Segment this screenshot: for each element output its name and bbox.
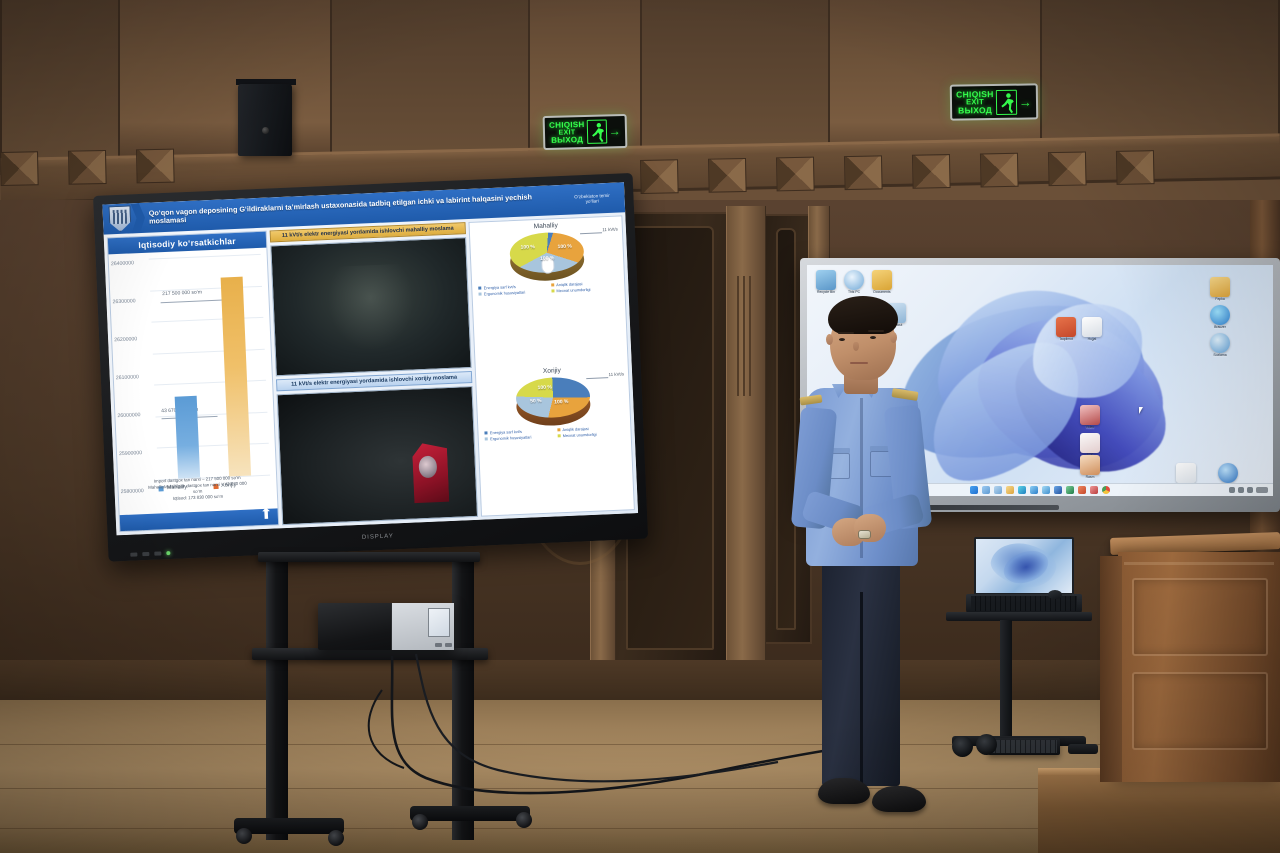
wall-panel: [0, 0, 120, 172]
podium-panel: [1132, 578, 1268, 656]
legend-swatch: [485, 431, 488, 434]
pyramid-stud: [844, 155, 883, 190]
conference-room-scene: CHIQISH EXIT ВЫХОД → CHIQISH EXIT ВЫХОД: [0, 0, 1280, 853]
presentation-display[interactable]: Qo‘qon vagon deposining G‘ildiraklarni t…: [93, 173, 648, 562]
battery-icon[interactable]: [1247, 487, 1253, 493]
bar-chart: 26400000 26300000 26200000 26100000 2600…: [109, 248, 278, 516]
pie-slice-label: 100 %: [520, 244, 534, 251]
exit-line-ru: ВЫХОД: [551, 136, 583, 145]
pyramid-stud: [68, 150, 107, 185]
presenter-ear-left: [826, 334, 833, 345]
stage-step: [1038, 770, 1280, 853]
recycle-bin-icon: [816, 270, 836, 290]
presenter-ear-right: [890, 332, 897, 343]
this-pc-icon: [844, 270, 864, 290]
pie-annotation: 11 kVt/s: [602, 227, 618, 233]
laptop-table: [946, 612, 1092, 621]
start-button-icon[interactable]: [970, 486, 978, 494]
y-tick: 26000000: [117, 412, 140, 419]
stand-caster: [516, 812, 532, 828]
pc-buttons[interactable]: [435, 643, 452, 647]
photo-local-machine: [270, 237, 471, 376]
podium: [1118, 552, 1280, 782]
media-pc-box: [318, 603, 454, 650]
pyramid-stud: [640, 159, 679, 194]
app-icon: [1218, 463, 1238, 483]
desktop-icon-video[interactable]: Video: [1077, 405, 1103, 430]
wall-speaker: [238, 84, 292, 156]
running-man-icon: [996, 89, 1017, 114]
system-tray[interactable]: [1229, 487, 1268, 493]
bar-mahalliy: [175, 396, 200, 479]
wall-pilaster: [726, 206, 766, 666]
slide: Qo‘qon vagon deposining G‘ildiraklarni t…: [102, 182, 638, 535]
podium-band: [1124, 562, 1274, 565]
legend-swatch: [551, 283, 554, 286]
video-file-icon: [1080, 405, 1100, 425]
icon-label: Papka: [1207, 298, 1233, 302]
stand-caster: [412, 814, 428, 830]
y-tick: 26400000: [111, 260, 134, 267]
economics-panel: Iqtisodiy ko‘rsatkichlar: [107, 231, 279, 533]
legend-swatch: [551, 289, 554, 292]
y-tick: 26200000: [114, 336, 137, 343]
presentation-screen[interactable]: Qo‘qon vagon deposining G‘ildiraklarni t…: [102, 182, 638, 535]
pie-slice-label: 100 %: [540, 255, 554, 262]
wall-panel: [640, 0, 830, 160]
org-line-2: yo‘llari: [563, 197, 622, 205]
pie-legend: Energiya sarf kvt/s Aniqlik darajasi Erg…: [480, 424, 628, 441]
presenter: [780, 292, 960, 822]
presenter-brow-left: [838, 332, 854, 334]
pyramid-stud: [980, 153, 1019, 188]
y-tick: 25900000: [119, 450, 142, 457]
legend-swatch: [479, 292, 482, 295]
remote-control[interactable]: [1068, 744, 1098, 754]
icon-label: Rasm: [1077, 476, 1103, 480]
pilaster-flute: [743, 276, 745, 396]
floor-speaker: [976, 734, 997, 755]
pyramid-stud: [912, 154, 951, 189]
usb-port[interactable]: [130, 552, 137, 556]
pie-graphic: 100 % 100 % 100 %: [509, 229, 585, 282]
powerpoint-taskbar-icon[interactable]: [1078, 486, 1086, 494]
icon-label: Hujjat: [1079, 338, 1105, 342]
legend-swatch: [558, 434, 561, 437]
pies-panel: Mahalliy 11 kVt/s 100 % 100 % 100 %: [468, 215, 634, 516]
pyramid-stud-row: [0, 148, 205, 186]
presenter-shoe-right: [872, 786, 926, 812]
word-doc-icon: [1082, 317, 1102, 337]
hdmi-port[interactable]: [154, 551, 161, 555]
pie-slice-label: 100 %: [558, 244, 572, 251]
machine-silhouette: [327, 264, 416, 353]
display-brand: DISPLAY: [362, 533, 394, 540]
exit-sign: CHIQISH EXIT ВЫХОД →: [950, 83, 1038, 120]
machine-red-part: [412, 442, 449, 503]
exit-arrow-icon: →: [1019, 94, 1032, 109]
pyramid-stud: [708, 158, 747, 193]
search-icon[interactable]: [982, 486, 990, 494]
pc-reset-button[interactable]: [445, 643, 452, 647]
desktop-icon-presentation[interactable]: Taqdimot: [1053, 317, 1079, 342]
speaker-driver: [262, 127, 269, 134]
photo-foreign-machine: [277, 386, 478, 525]
exit-arrow-icon: →: [609, 124, 621, 138]
wall-panel: [1040, 0, 1280, 150]
legend-label: Ergonomik hususiyatlari: [484, 290, 525, 297]
pie-title: Xorijiy: [543, 367, 561, 375]
leg-seam: [860, 592, 863, 788]
podium-side: [1100, 556, 1122, 782]
pilaster-flute: [737, 276, 739, 396]
word-icon[interactable]: [1054, 486, 1062, 494]
podium-panel: [1132, 672, 1268, 750]
task-view-icon[interactable]: [994, 486, 1002, 494]
media-player-icon[interactable]: [1090, 486, 1098, 494]
chevron-icon: [130, 203, 145, 234]
network-icon[interactable]: [1229, 487, 1235, 493]
chrome-icon[interactable]: [1102, 486, 1110, 494]
legend-swatch: [557, 428, 560, 431]
stand-column-left: [266, 560, 288, 840]
pc-display-window: [428, 608, 450, 637]
pie-graphic: 100 % 50 % 100 %: [515, 373, 591, 426]
bar-xorijiy: [221, 277, 251, 477]
legend-label: Mexnat unumdorligi: [563, 431, 597, 437]
stand-caster: [236, 828, 252, 844]
desktop-icon-folder[interactable]: Papka: [1207, 277, 1233, 302]
pyramid-stud: [136, 149, 175, 184]
machine-wheel: [419, 456, 438, 478]
pie-chart-mahalliy: Mahalliy 11 kVt/s 100 % 100 % 100 %: [472, 220, 626, 369]
clock[interactable]: [1256, 487, 1268, 493]
pie-title: Mahalliy: [533, 222, 557, 230]
legend-label: Ergonomik hususiyatlari: [490, 434, 531, 441]
gear-icon: [1210, 333, 1230, 353]
y-tick: 26300000: [112, 298, 135, 305]
organization-label: O‘zbekiston temir yo‘llari: [562, 192, 624, 206]
exit-sign-text: CHIQISH EXIT ВЫХОД: [956, 90, 994, 115]
browser-icon: [1210, 305, 1230, 325]
pie-slice-label: 100 %: [554, 398, 568, 405]
icon-label: Taqdimot: [1053, 338, 1079, 342]
exit-sign-text: CHIQISH EXIT ВЫХОД: [549, 121, 585, 145]
image-file-icon: [1080, 455, 1100, 475]
icon-label: Sozlama: [1207, 354, 1233, 358]
documents-folder-icon: [872, 270, 892, 290]
pc-power-button[interactable]: [435, 643, 442, 647]
mouse-cursor: [1139, 407, 1143, 414]
pie-chart-xorijiy: Xorijiy 11 kVt/s 100 % 50 % 100 %: [478, 364, 632, 513]
laptop-display[interactable]: [974, 537, 1074, 595]
pie-slice-label: 50 %: [530, 398, 542, 404]
slide-body: Iqtisodiy ko‘rsatkichlar: [104, 212, 638, 535]
legend-label: Mexnat unumdorligi: [556, 287, 590, 293]
icon-label: Video: [1077, 426, 1103, 430]
presenter-brow-right: [868, 330, 884, 332]
mail-icon[interactable]: [1030, 486, 1038, 494]
stand-caster: [328, 830, 344, 846]
pie-annotation: 11 kVt/s: [608, 371, 624, 377]
exit-line-ru: ВЫХОД: [958, 106, 992, 115]
edge-icon[interactable]: [1018, 486, 1026, 494]
pyramid-stud: [776, 157, 815, 192]
folder-icon: [1210, 277, 1230, 297]
wall-panel: [330, 0, 530, 168]
presenter-mouth: [850, 362, 868, 364]
economics-footnotes: Import dastgox tan narxi – 217 500 000 s…: [121, 474, 274, 504]
pyramid-stud: [1116, 150, 1155, 185]
pilaster-flute: [749, 276, 751, 396]
bar-chart-bars: [155, 254, 266, 479]
presenter-shoe-left: [818, 778, 870, 804]
legend-swatch: [485, 437, 488, 440]
excel-icon[interactable]: [1066, 486, 1074, 494]
volume-icon[interactable]: [1238, 487, 1244, 493]
wristwatch: [858, 530, 871, 539]
photos-panel: 11 kVt/s elektr energiyasi yordamida ish…: [270, 222, 479, 525]
desktop-icon-document[interactable]: Hujjat: [1079, 317, 1105, 342]
desktop-icon-settings[interactable]: Sozlama: [1207, 333, 1233, 358]
store-icon[interactable]: [1042, 486, 1050, 494]
keyboard-keys[interactable]: [991, 740, 1057, 753]
laptop-keys[interactable]: [971, 596, 1077, 611]
pyramid-stud: [1048, 151, 1087, 186]
pc-front-panel: [391, 603, 454, 650]
generic-file-icon: [1176, 463, 1196, 483]
file-explorer-icon[interactable]: [1006, 486, 1014, 494]
desktop-icon-image[interactable]: Rasm: [1077, 455, 1103, 480]
railway-crest-icon: [108, 205, 131, 232]
pyramid-stud: [0, 151, 39, 186]
power-led: [166, 551, 170, 555]
desktop-icon-browser[interactable]: Brauzer: [1207, 305, 1233, 330]
computer-mouse[interactable]: [1048, 590, 1062, 599]
laptop-table-leg: [1000, 620, 1012, 740]
presenter-hair: [828, 296, 898, 334]
presenter-eye-right: [870, 336, 876, 339]
exit-sign: CHIQISH EXIT ВЫХОД →: [543, 114, 628, 150]
presenter-nose: [853, 342, 859, 351]
floor-keyboard[interactable]: [988, 738, 1060, 755]
up-arrow-icon[interactable]: ⬆: [259, 505, 273, 526]
stand-crossbar: [258, 552, 480, 562]
icon-label: Brauzer: [1207, 326, 1233, 330]
usb-port[interactable]: [142, 552, 149, 556]
laptop-keyboard-base[interactable]: [966, 594, 1082, 614]
legend-swatch: [479, 286, 482, 289]
powerpoint-icon: [1056, 317, 1076, 337]
pdf-file-icon: [1080, 433, 1100, 453]
pie-slice-label: 100 %: [537, 384, 551, 391]
running-man-icon: [586, 119, 607, 143]
presenter-eye-left: [839, 338, 845, 341]
pie-legend: Energiya sarf kvt/s Aniqlik darajasi Erg…: [474, 279, 622, 296]
y-tick: 26100000: [116, 374, 139, 381]
